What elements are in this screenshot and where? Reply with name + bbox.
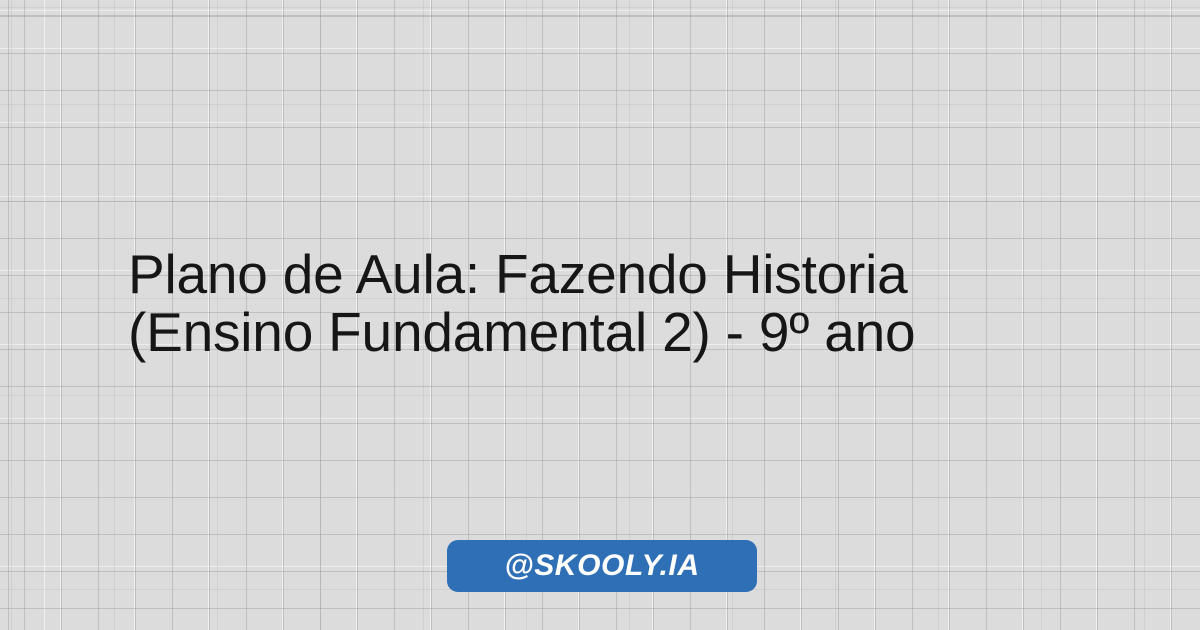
page-title-line-1: Plano de Aula: Fazendo Historia: [128, 245, 1108, 303]
watermark-badge: @SKOOLY.IA: [447, 540, 757, 592]
lesson-plan-cover-card: Plano de Aula: Fazendo Historia (Ensino …: [0, 0, 1200, 630]
watermark-badge-label: @SKOOLY.IA: [504, 549, 699, 583]
page-title: Plano de Aula: Fazendo Historia (Ensino …: [128, 245, 1108, 361]
page-title-line-2: (Ensino Fundamental 2) - 9º ano: [128, 303, 1108, 361]
